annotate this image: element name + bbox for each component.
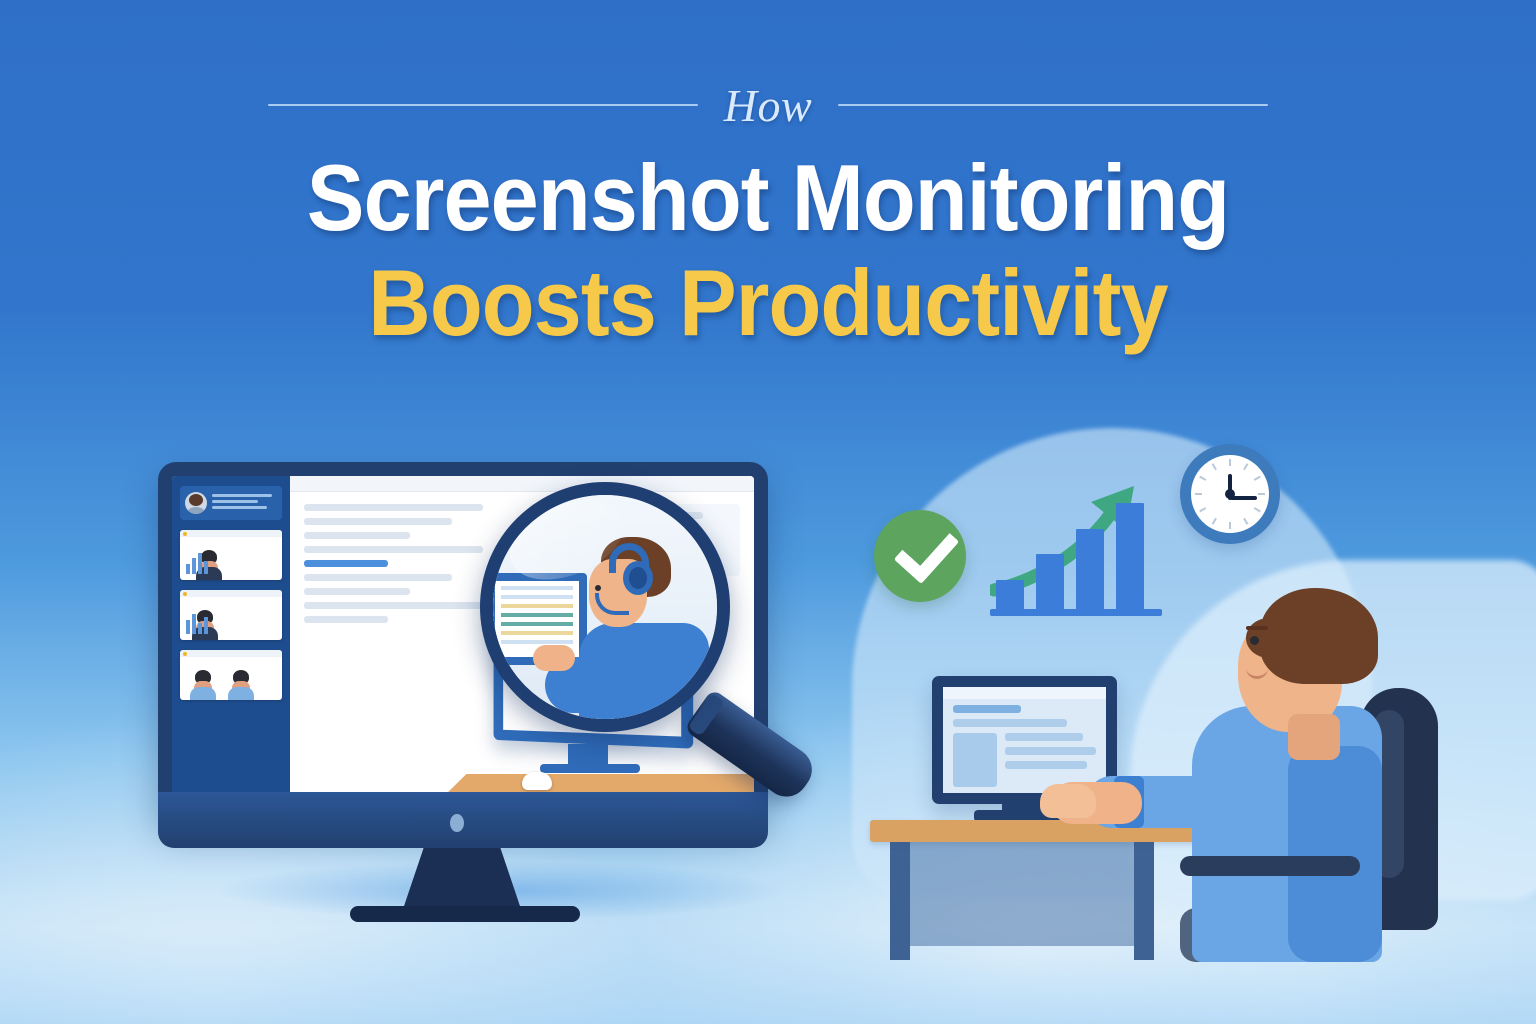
page-title: Screenshot Monitoring Boosts Productivit… [0,150,1536,352]
list-item[interactable] [180,590,282,640]
eyebrow-text: How [724,79,812,132]
list-item[interactable] [180,650,282,700]
chart-baseline [990,609,1162,616]
check-circle-icon [874,510,966,602]
monitor-stand [402,848,522,912]
magnified-person-hand [533,645,575,671]
desk-leg-left [890,842,910,960]
dashboard-sidebar [172,476,290,808]
rule-right [838,104,1268,106]
sidebar-profile-row [180,486,282,520]
desk-panel [910,842,1134,946]
office-chair-armrest [1180,856,1360,876]
list-item[interactable] [180,530,282,580]
poster-canvas: How Screenshot Monitoring Boosts Product… [0,0,1536,1024]
worker-hand [1040,784,1096,818]
chart-bars [996,488,1144,610]
worker-head [1230,588,1380,738]
left-illustration [150,462,870,932]
eyebrow-row: How [0,74,1536,136]
title-line-1: Screenshot Monitoring [61,150,1474,246]
desk-leg-right [1134,842,1154,960]
clock-icon [1180,444,1280,544]
magnifying-glass-icon[interactable] [480,482,730,732]
mouse-icon [522,772,552,790]
monitor-led-icon [450,814,464,832]
monitor-base [350,906,580,922]
avatar [185,492,207,514]
growth-bar-chart-icon [990,472,1170,620]
title-line-2: Boosts Productivity [61,254,1474,352]
inner-monitor-stand [568,744,608,766]
headset-icon [623,561,653,595]
inner-monitor-base [540,764,640,773]
worker-torso [1192,706,1382,962]
right-illustration [862,438,1462,938]
rule-left [268,104,698,106]
magnified-person-torso [579,623,709,732]
clock-center-pin [1225,489,1235,499]
content-toolbar [290,476,754,492]
